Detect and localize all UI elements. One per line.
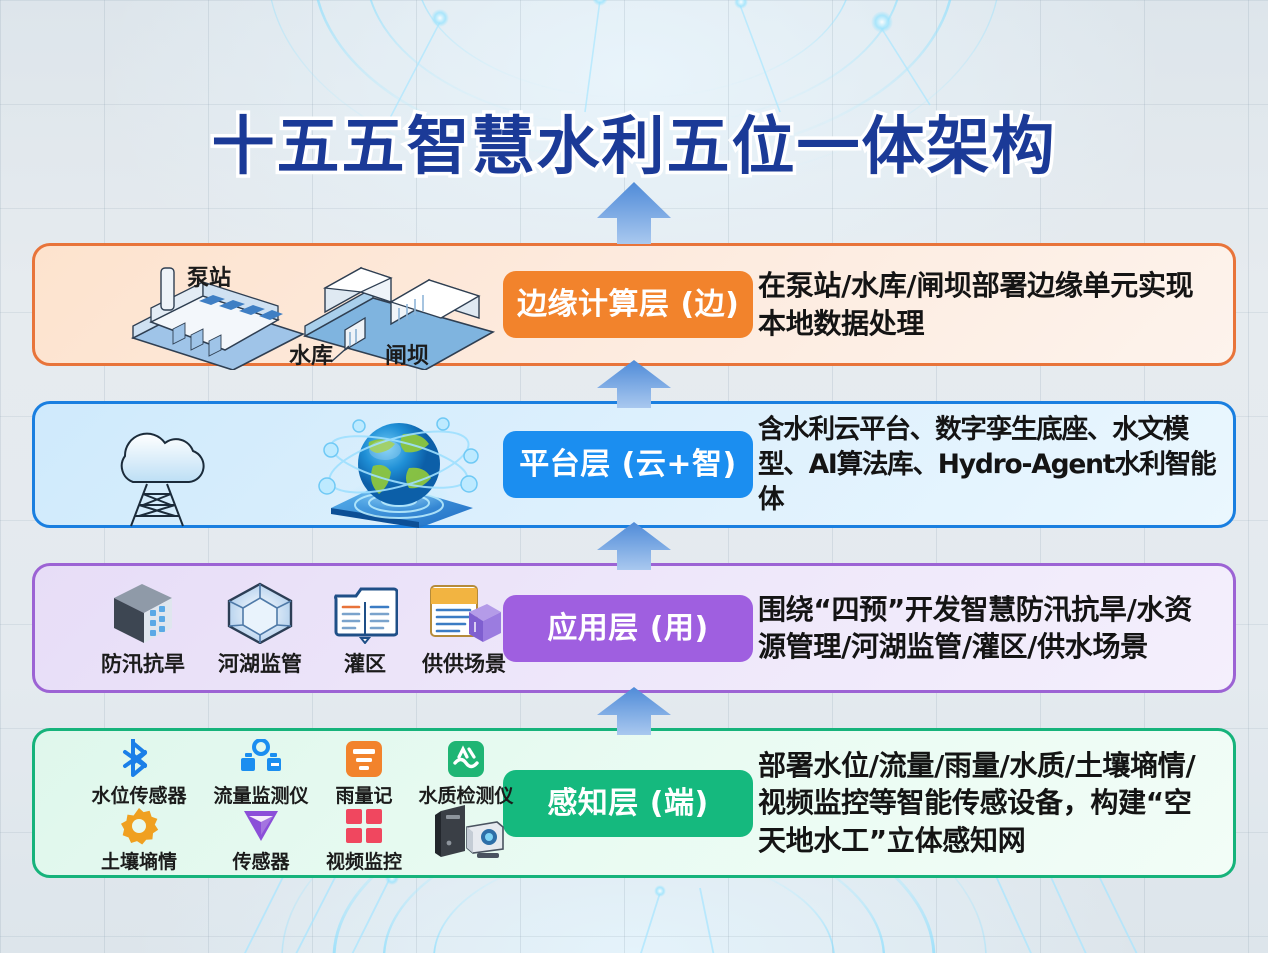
sense-item-water-quality[interactable]: 水质检测仪	[407, 739, 525, 808]
caption-river-lake: 河湖监管	[198, 648, 322, 678]
caption-sluice-dam: 闸坝	[385, 338, 429, 370]
platform-illustration	[73, 404, 503, 529]
river-lake-supervision-icon	[225, 582, 295, 644]
app-desc-zone: 围绕“四预”开发智慧防汛抗旱/水资源管理/河湖监管/灌区/供水场景	[758, 591, 1233, 665]
sense-icon-zone: 水位传感器 流量监测仪 雨量记	[35, 731, 503, 875]
caption-sensor: 传感器	[197, 847, 325, 874]
sense-item-soil-moisture[interactable]: 土壤墒情	[75, 807, 203, 874]
badge-sensing[interactable]: 感知层 (端)	[503, 770, 753, 837]
irrigation-area-icon	[332, 582, 398, 644]
water-level-sensor-icon	[119, 739, 159, 779]
sense-item-sensor[interactable]: 传感器	[197, 807, 325, 874]
soil-moisture-icon	[119, 807, 159, 845]
caption-reservoir: 水库	[289, 338, 333, 370]
page-title-text: 十五五智慧水利五位一体架构	[212, 96, 1057, 187]
app-item-irrigation[interactable]: 灌区	[320, 582, 410, 678]
caption-irrigation: 灌区	[320, 648, 410, 678]
platform-desc-zone: 含水利云平台、数字孪生底座、水文模型、AI算法库、Hydro-Agent水利智能…	[758, 412, 1233, 518]
sense-item-video-surveillance[interactable]: 视频监控	[315, 807, 413, 874]
edge-desc-zone: 在泵站/水库/闸坝部署边缘单元实现本地数据处理	[758, 267, 1233, 341]
layer-platform[interactable]: 平台层 (云+智) 含水利云平台、数字孪生底座、水文模型、AI算法库、Hydro…	[32, 401, 1236, 528]
app-item-flood-control[interactable]: 防汛抗旱	[83, 582, 203, 678]
caption-rain-gauge: 雨量记	[315, 781, 413, 808]
description-edge-computing: 在泵站/水库/闸坝部署边缘单元实现本地数据处理	[758, 267, 1219, 341]
description-platform: 含水利云平台、数字孪生底座、水文模型、AI算法库、Hydro-Agent水利智能…	[758, 412, 1219, 518]
sensor-icon	[241, 807, 281, 845]
badge-edge-computing[interactable]: 边缘计算层 (边)	[503, 271, 753, 338]
description-sensing: 部署水位/流量/雨量/水质/土壤墒情/视频监控等智能传感设备，构建“空天地水工”…	[758, 747, 1219, 859]
arrow-up-to-edge	[597, 360, 671, 408]
platform-icon-zone	[35, 404, 503, 525]
caption-flow-monitor: 流量监测仪	[197, 781, 325, 808]
sense-desc-zone: 部署水位/流量/雨量/水质/土壤墒情/视频监控等智能传感设备，构建“空天地水工”…	[758, 747, 1233, 859]
sense-item-rain-gauge[interactable]: 雨量记	[315, 739, 413, 808]
sense-item-flow-monitor[interactable]: 流量监测仪	[197, 739, 325, 808]
edge-icon-zone: 泵站 水库 闸坝	[35, 246, 503, 363]
caption-video-surveillance: 视频监控	[315, 847, 413, 874]
platform-badge-zone: 平台层 (云+智)	[503, 431, 758, 498]
app-icon-zone: 防汛抗旱 河湖监管	[35, 566, 503, 690]
app-item-river-lake[interactable]: 河湖监管	[198, 582, 322, 678]
layer-sensing[interactable]: 水位传感器 流量监测仪 雨量记	[32, 728, 1236, 878]
arrow-up-to-platform	[597, 522, 671, 570]
badge-application[interactable]: 应用层 (用)	[503, 595, 753, 662]
water-quality-detector-icon	[446, 739, 486, 779]
flow-monitor-icon	[239, 739, 283, 779]
page-title: 十五五智慧水利五位一体架构	[0, 96, 1268, 187]
flood-control-icon	[106, 582, 180, 644]
app-item-water-supply[interactable]: 供供场景	[405, 582, 523, 678]
arrow-up-to-title	[597, 182, 671, 244]
edge-illustration	[73, 250, 503, 370]
layer-edge-computing[interactable]: 泵站 水库 闸坝 边缘计算层 (边) 在泵站/水库/闸坝部署边缘单元实现本地数据…	[32, 243, 1236, 366]
caption-flood-control: 防汛抗旱	[83, 648, 203, 678]
cloud-tower-icon	[122, 434, 204, 526]
app-badge-zone: 应用层 (用)	[503, 595, 758, 662]
caption-pump-station: 泵站	[187, 260, 231, 292]
layer-application[interactable]: 防汛抗旱 河湖监管	[32, 563, 1236, 693]
description-application: 围绕“四预”开发智慧防汛抗旱/水资源管理/河湖监管/灌区/供水场景	[758, 591, 1219, 665]
caption-soil-moisture: 土壤墒情	[75, 847, 203, 874]
workstation-icon	[431, 803, 507, 861]
water-supply-scene-icon	[425, 582, 503, 644]
rain-gauge-icon	[344, 739, 384, 779]
arrow-up-to-app	[597, 687, 671, 735]
edge-badge-zone: 边缘计算层 (边)	[503, 271, 758, 338]
caption-water-supply: 供供场景	[405, 648, 523, 678]
video-surveillance-icon	[344, 807, 384, 845]
caption-water-level-sensor: 水位传感器	[75, 781, 203, 808]
sense-item-workstation[interactable]	[423, 803, 515, 861]
globe-network-icon	[319, 418, 478, 528]
sense-badge-zone: 感知层 (端)	[503, 770, 758, 837]
sense-item-water-level[interactable]: 水位传感器	[75, 739, 203, 808]
badge-platform[interactable]: 平台层 (云+智)	[503, 431, 753, 498]
